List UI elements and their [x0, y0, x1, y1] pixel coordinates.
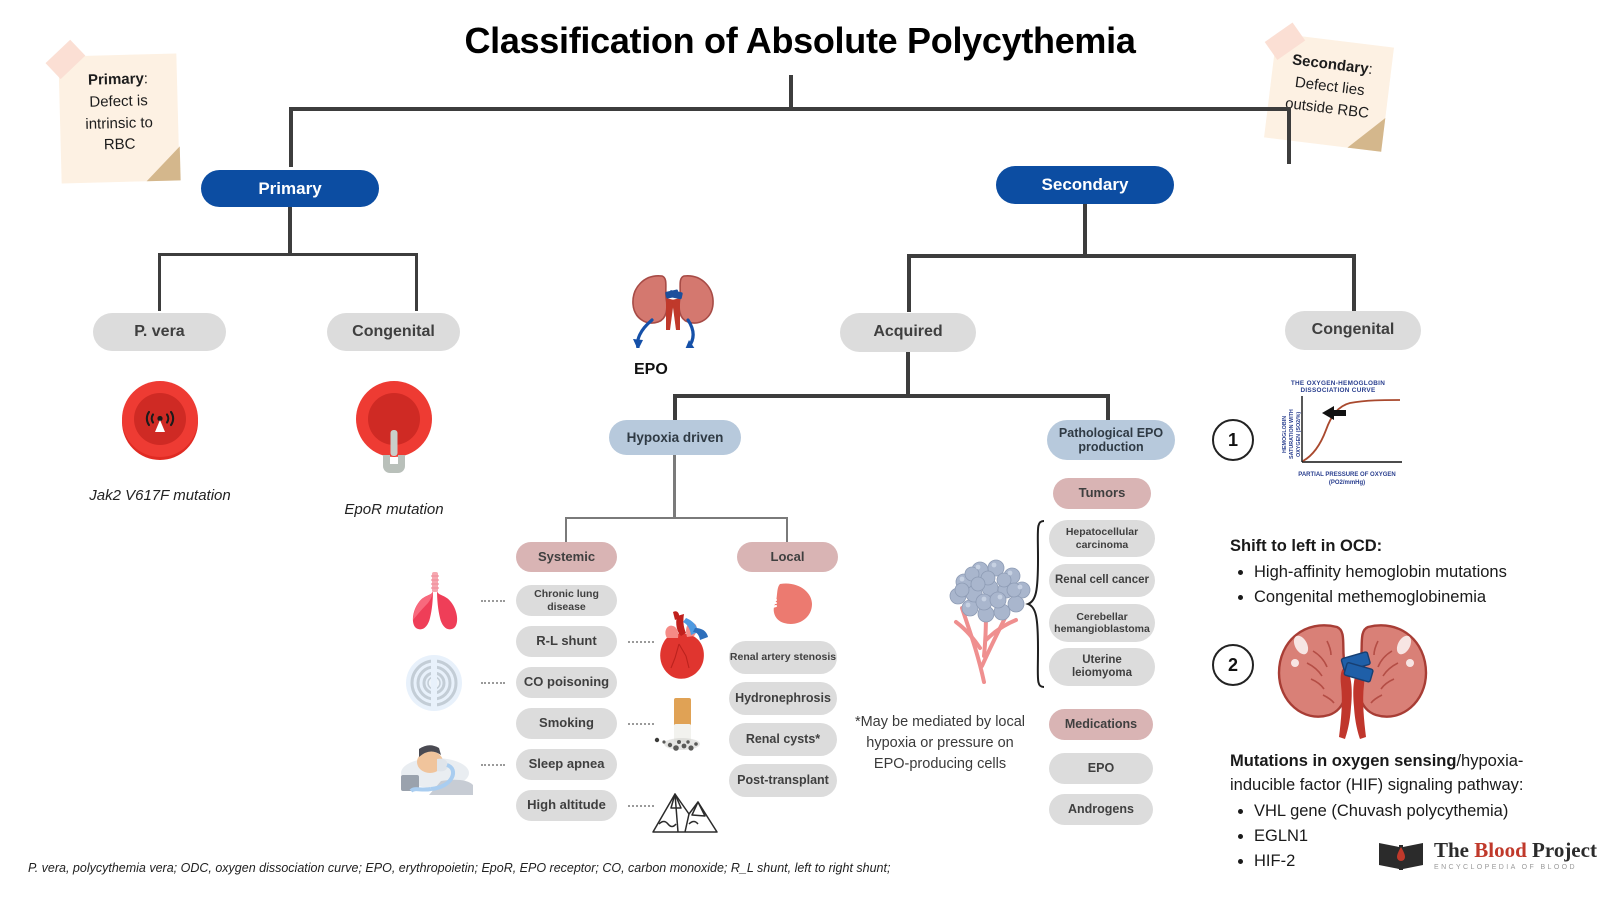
item-sleep-apnea-label: Sleep apnea	[529, 757, 605, 772]
item-hepatocellular-carcinoma[interactable]: Hepatocellular carcinoma	[1049, 520, 1155, 557]
page-fold-icon	[146, 146, 181, 181]
connector-acquired-bar	[673, 394, 1110, 398]
kidneys-epo-icon	[618, 268, 728, 348]
epo-label: EPO	[634, 361, 668, 379]
leader-dots-heart	[628, 641, 654, 643]
item-chronic-lung-disease-label: Chronic lung disease	[516, 588, 617, 612]
item-renal-cysts[interactable]: Renal cysts*	[729, 723, 837, 756]
left-arrow-icon	[1322, 406, 1346, 420]
item-hydronephrosis[interactable]: Hydronephrosis	[729, 682, 837, 715]
item-post-transplant[interactable]: Post-transplant	[729, 764, 837, 797]
connector-acquired-left-drop	[673, 394, 677, 421]
connector-hypoxia-stem	[673, 455, 676, 519]
node-primary[interactable]: Primary	[201, 170, 379, 207]
mountain-icon	[645, 778, 723, 834]
node-hypoxia-driven[interactable]: Hypoxia driven	[609, 420, 741, 455]
connector-hypoxia-right-drop	[786, 517, 788, 542]
odc-chart-ylabel: HEMOGLOBIN SATURATION WITH OXYGEN (SO2/%…	[1282, 398, 1296, 470]
item-co-poisoning[interactable]: CO poisoning	[516, 667, 617, 698]
node-tumors[interactable]: Tumors	[1053, 478, 1151, 509]
brand-logo-text: The Blood Project ENCYCLOPEDIA OF BLOOD	[1434, 838, 1597, 871]
item-renal-cysts-label: Renal cysts*	[746, 732, 820, 746]
kidneys-icon	[1265, 615, 1440, 745]
item-cerebellar-hemangioblastoma-label: Cerebellar hemangioblastoma	[1053, 611, 1151, 635]
panel-1-bullet-1: Congenital methemoglobinemia	[1254, 586, 1580, 610]
item-renal-artery-stenosis[interactable]: Renal artery stenosis	[729, 641, 837, 674]
brand-line2: ENCYCLOPEDIA OF BLOOD	[1434, 864, 1597, 871]
panel-2-bullet-0: VHL gene (Chuvash polycythemia)	[1254, 800, 1588, 824]
item-post-transplant-label: Post-transplant	[737, 773, 829, 787]
item-androgens-label: Androgens	[1068, 802, 1134, 816]
connector-top-bar	[289, 107, 1291, 111]
rbc-signal-icon	[118, 378, 202, 462]
connector-secondary-left-drop	[907, 254, 911, 312]
node-local-label: Local	[771, 550, 805, 565]
connector-secondary-bar	[907, 254, 1356, 258]
diagram-canvas: Classification of Absolute Polycythemia …	[0, 0, 1600, 900]
brand-logo[interactable]: The Blood Project ENCYCLOPEDIA OF BLOOD	[1377, 838, 1597, 871]
node-p-vera-label: P. vera	[134, 323, 184, 341]
connector-top-left-drop	[289, 107, 293, 167]
marker-1-label: 1	[1228, 430, 1238, 451]
node-pathological-epo[interactable]: Pathological EPO production	[1047, 420, 1175, 460]
item-cerebellar-hemangioblastoma[interactable]: Cerebellar hemangioblastoma	[1049, 604, 1155, 642]
leader-dots-lungs	[481, 600, 505, 602]
rbc-receptor-icon	[352, 378, 436, 474]
connector-hypoxia-bar	[565, 517, 787, 519]
connector-primary-left-drop	[158, 253, 161, 311]
node-systemic[interactable]: Systemic	[516, 542, 617, 572]
item-rl-shunt[interactable]: R-L shunt	[516, 626, 617, 657]
item-epo-medication[interactable]: EPO	[1049, 753, 1153, 784]
odc-chart-xlabel: PARTIAL PRESSURE OF OXYGEN (PO2/mmHg)	[1288, 472, 1406, 487]
sticky-note-secondary: Secondary: Defect lies outside RBC	[1264, 33, 1394, 152]
item-hepatocellular-carcinoma-label: Hepatocellular carcinoma	[1055, 526, 1149, 550]
leader-dots-co	[481, 682, 505, 684]
panel-1-text: Shift to left in OCD: High-affinity hemo…	[1230, 535, 1580, 611]
item-uterine-leiomyoma-label: Uterine leiomyoma	[1055, 654, 1149, 680]
leader-dots-cpap	[481, 764, 505, 766]
node-secondary[interactable]: Secondary	[996, 166, 1174, 204]
node-medications-label: Medications	[1065, 717, 1137, 731]
sticky-note-primary-colon: :	[144, 70, 149, 87]
panel-1-bullets: High-affinity hemoglobin mutations Conge…	[1230, 561, 1580, 610]
heart-icon	[653, 610, 713, 682]
odc-chart-xlabel-line1: PARTIAL PRESSURE OF OXYGEN	[1288, 472, 1406, 480]
item-renal-artery-stenosis-label: Renal artery stenosis	[730, 651, 836, 663]
node-congenital-secondary[interactable]: Congenital	[1285, 311, 1421, 350]
connector-acquired-right-drop	[1106, 394, 1110, 421]
item-androgens[interactable]: Androgens	[1049, 794, 1153, 825]
brand-line1a: The	[1434, 838, 1474, 862]
node-primary-label: Primary	[258, 179, 321, 199]
brand-line1b: Blood	[1474, 838, 1532, 862]
item-smoking[interactable]: Smoking	[516, 708, 617, 739]
cpap-icon	[397, 735, 475, 797]
node-hypoxia-driven-label: Hypoxia driven	[627, 430, 724, 446]
marker-2: 2	[1212, 644, 1254, 686]
item-rl-shunt-label: R-L shunt	[536, 634, 596, 649]
connector-primary-stem	[288, 207, 292, 254]
item-high-altitude[interactable]: High altitude	[516, 790, 617, 821]
node-congenital-primary-label: Congenital	[352, 323, 435, 341]
sticky-note-secondary-colon: :	[1367, 61, 1373, 78]
node-pathological-epo-label: Pathological EPO production	[1055, 426, 1167, 455]
open-book-icon	[1377, 839, 1425, 871]
page-fold-icon	[1347, 114, 1385, 152]
node-acquired-label: Acquired	[873, 323, 942, 341]
connector-title-stem	[789, 75, 793, 109]
brand-line1c: Project	[1532, 838, 1597, 862]
item-renal-cell-cancer[interactable]: Renal cell cancer	[1049, 564, 1155, 597]
sticky-note-primary-label: Primary	[88, 70, 144, 88]
node-systemic-label: Systemic	[538, 550, 595, 565]
item-uterine-leiomyoma[interactable]: Uterine leiomyoma	[1049, 648, 1155, 686]
item-smoking-label: Smoking	[539, 716, 594, 731]
cigarette-icon	[648, 696, 718, 758]
node-acquired[interactable]: Acquired	[840, 313, 976, 352]
lungs-icon	[403, 570, 467, 632]
marker-2-label: 2	[1228, 655, 1238, 676]
node-local[interactable]: Local	[737, 542, 838, 572]
node-p-vera[interactable]: P. vera	[93, 313, 226, 351]
panel-1-heading: Shift to left in OCD:	[1230, 535, 1580, 559]
node-congenital-primary[interactable]: Congenital	[327, 313, 460, 351]
item-renal-cell-cancer-label: Renal cell cancer	[1055, 574, 1149, 587]
node-congenital-secondary-label: Congenital	[1312, 321, 1395, 339]
connector-top-right-drop	[1287, 107, 1291, 164]
footnote: P. vera, polycythemia vera; ODC, oxygen …	[28, 861, 890, 875]
item-co-poisoning-label: CO poisoning	[524, 675, 609, 690]
connector-hypoxia-left-drop	[565, 517, 567, 542]
connector-secondary-stem	[1083, 204, 1087, 256]
panel-2-heading: Mutations in oxygen sensing	[1230, 752, 1456, 770]
caption-jak2: Jak2 V617F mutation	[60, 487, 260, 504]
connector-secondary-right-drop	[1352, 254, 1356, 312]
connector-primary-right-drop	[415, 253, 418, 311]
odc-chart: THE OXYGEN-HEMOGLOBIN DISSOCIATION CURVE…	[1268, 380, 1408, 490]
tumor-cluster-icon	[928, 536, 1038, 688]
sticky-note-primary: Primary: Defect is intrinsic to RBC	[58, 53, 179, 183]
item-hydronephrosis-label: Hydronephrosis	[735, 691, 831, 705]
item-epo-medication-label: EPO	[1088, 761, 1114, 775]
node-medications[interactable]: Medications	[1049, 709, 1153, 740]
caption-epor: EpoR mutation	[294, 501, 494, 518]
kidney-local-icon	[758, 580, 816, 628]
connector-acquired-stem	[906, 352, 910, 397]
odc-chart-title: THE OXYGEN-HEMOGLOBIN DISSOCIATION CURVE	[1268, 380, 1408, 394]
panel-1-bullet-0: High-affinity hemoglobin mutations	[1254, 561, 1580, 585]
item-high-altitude-label: High altitude	[527, 798, 606, 813]
marker-1: 1	[1212, 419, 1254, 461]
co-detector-icon	[403, 654, 465, 712]
node-secondary-label: Secondary	[1042, 175, 1129, 195]
item-chronic-lung-disease[interactable]: Chronic lung disease	[516, 585, 617, 616]
connector-primary-bar	[158, 253, 418, 256]
local-footnote: *May be mediated by local hypoxia or pre…	[850, 712, 1030, 775]
odc-chart-xlabel-line2: (PO2/mmHg)	[1288, 480, 1406, 488]
node-tumors-label: Tumors	[1079, 486, 1126, 501]
item-sleep-apnea[interactable]: Sleep apnea	[516, 749, 617, 780]
